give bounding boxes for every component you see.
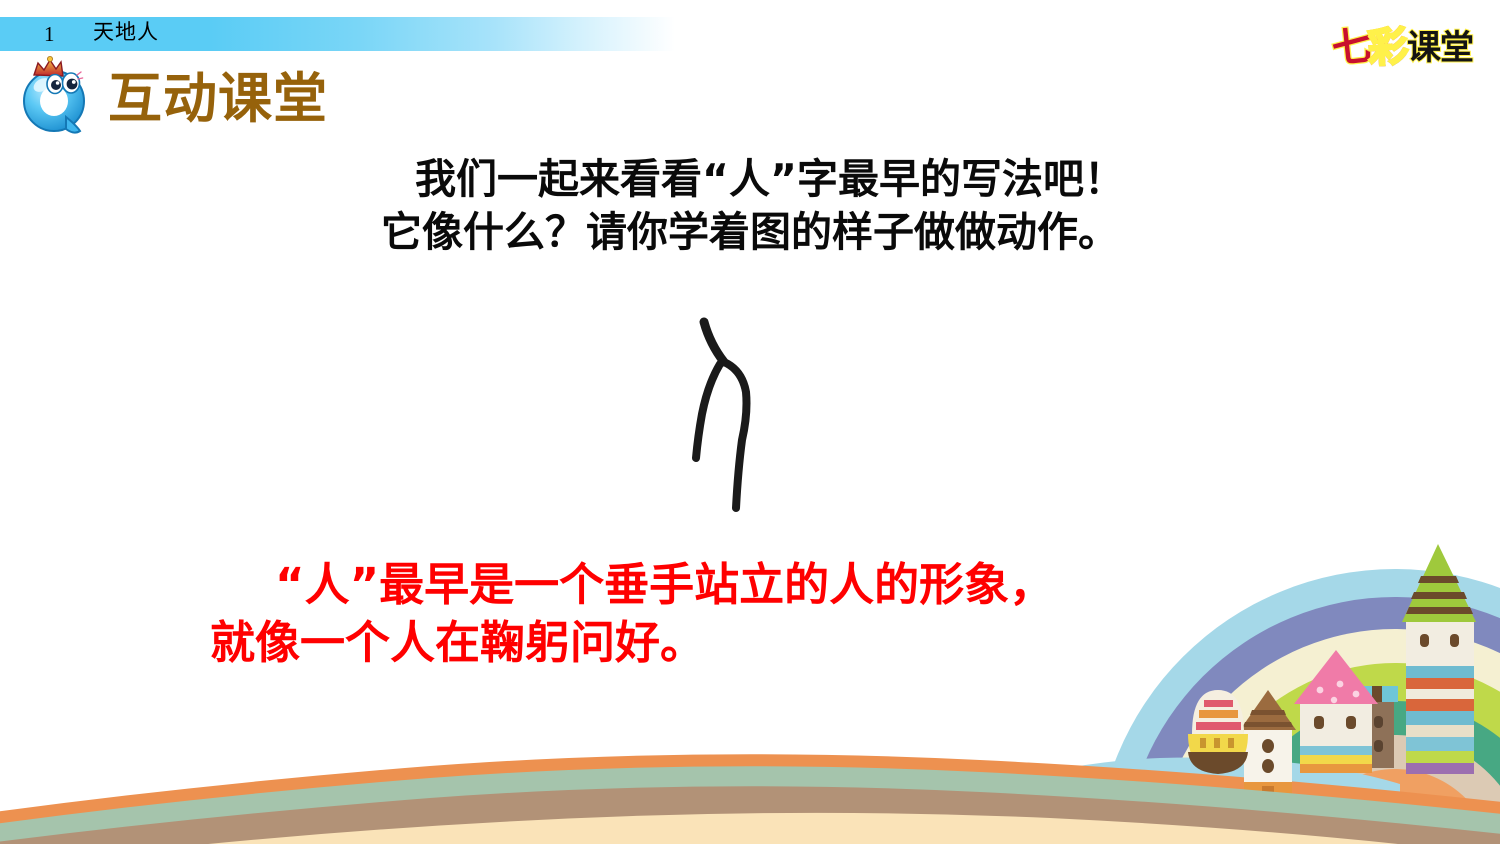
brand-char-tang: 堂 <box>1440 26 1472 70</box>
house-tall-tower <box>1402 544 1476 774</box>
oracle-bone-ren-character <box>638 310 818 540</box>
page-title: 互动课堂 <box>108 68 328 130</box>
lesson-header-bar <box>0 17 1500 51</box>
brand-char-cai: 彩 <box>1367 25 1408 72</box>
lesson-title: 天地人 <box>93 19 159 47</box>
prompt-line-2: 它像什么？请你学着图的样子做做动作。 <box>0 206 1500 259</box>
house-brown-block <box>1336 686 1398 768</box>
prompt-paragraph: 我们一起来看看“人”字最早的写法吧！ 它像什么？请你学着图的样子做做动作。 <box>0 153 1500 259</box>
q-mascot-with-crown-icon <box>14 55 100 141</box>
slide-canvas: 1 天地人 七 彩 课 堂 <box>0 0 1500 844</box>
explanation-line-1: “人”最早是一个垂手站立的人的形象， <box>0 556 1360 614</box>
house-striped-dome <box>1188 690 1248 774</box>
prompt-line-1: 我们一起来看看“人”字最早的写法吧！ <box>0 153 1500 206</box>
lesson-number: 1 <box>44 20 55 48</box>
brand-char-ke: 课 <box>1407 26 1439 70</box>
house-brown-roof <box>1240 690 1296 800</box>
explanation-paragraph: “人”最早是一个垂手站立的人的形象， 就像一个人在鞠躬问好。 <box>0 556 1360 672</box>
explanation-line-2: 就像一个人在鞠躬问好。 <box>0 614 1360 672</box>
brand-logo: 七 彩 课 堂 <box>1332 20 1472 76</box>
